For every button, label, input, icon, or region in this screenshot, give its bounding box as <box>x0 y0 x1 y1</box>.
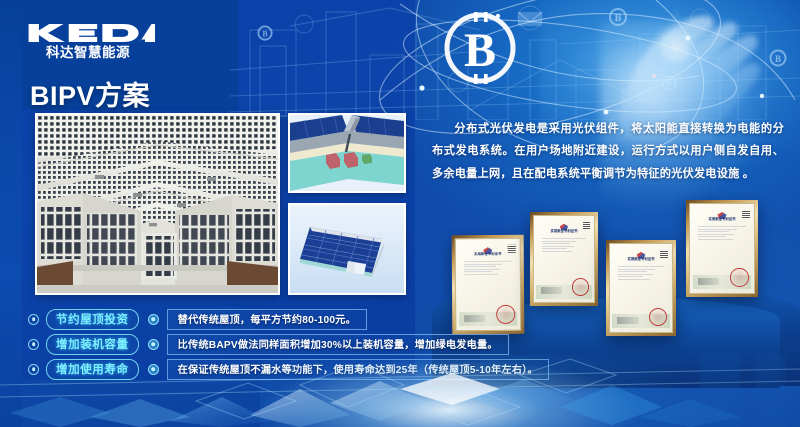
benefit-row-2: 增加装机容量 比传统BAPV做法同样面积增加30%以上装机容量，增加绿电发电量。 <box>28 335 768 353</box>
bullet-ring-filled-icon <box>148 314 159 325</box>
atrium-glass-roof-photo <box>35 113 280 295</box>
footer-decoration <box>0 355 800 427</box>
certificate-qr-icon <box>742 210 750 218</box>
bitcoin-circle-icon: B <box>434 2 526 94</box>
svg-text:B: B <box>262 30 268 39</box>
certificate-4: 实用新型专利证书 <box>686 200 758 297</box>
certificate-seal-icon <box>572 278 590 296</box>
benefit-row-1: 节约屋顶投资 替代传统屋顶，每平方节约80-100元。 <box>28 310 768 328</box>
certificate-qr-icon <box>508 245 516 253</box>
pv-mounting-detail-diagram <box>288 113 406 193</box>
keda-logo-icon <box>26 22 155 44</box>
benefit-badge-1: 节约屋顶投资 <box>46 309 139 330</box>
bitcoin-small-icon-3: B <box>256 24 274 42</box>
certificate-2: 实用新型专利证书 <box>530 212 598 306</box>
page-title: BIPV方案 <box>30 74 150 113</box>
benefit-text-2: 比传统BAPV做法同样面积增加30%以上装机容量，增加绿电发电量。 <box>167 334 509 355</box>
description-paragraph: 分布式光伏发电是采用光伏组件，将太阳能直接转换为电能的分布式发电系统。在用户场地… <box>432 118 784 185</box>
certificate-qr-icon <box>583 222 590 229</box>
bullet-ring-icon <box>28 339 39 350</box>
pv-module-3d-diagram <box>288 203 406 295</box>
brand-logo: 科达智慧能源 <box>26 22 150 61</box>
certificate-emblem-icon <box>637 252 646 259</box>
benefit-badge-2: 增加装机容量 <box>46 334 139 355</box>
bullet-ring-filled-icon <box>148 339 159 350</box>
certificate-qr-icon <box>660 250 667 257</box>
brand-logo-cn-text: 科达智慧能源 <box>26 46 150 61</box>
bullet-ring-icon <box>28 314 39 325</box>
certificate-emblem-icon <box>483 247 492 254</box>
certificate-seal-icon <box>730 268 749 287</box>
certificate-emblem-icon <box>560 224 568 231</box>
bipv-solution-slide: B B B B B <box>0 0 800 427</box>
certificate-emblem-icon <box>718 212 727 219</box>
benefit-text-1: 替代传统屋顶，每平方节约80-100元。 <box>167 309 367 330</box>
bitcoin-symbol-text: B <box>464 24 496 77</box>
